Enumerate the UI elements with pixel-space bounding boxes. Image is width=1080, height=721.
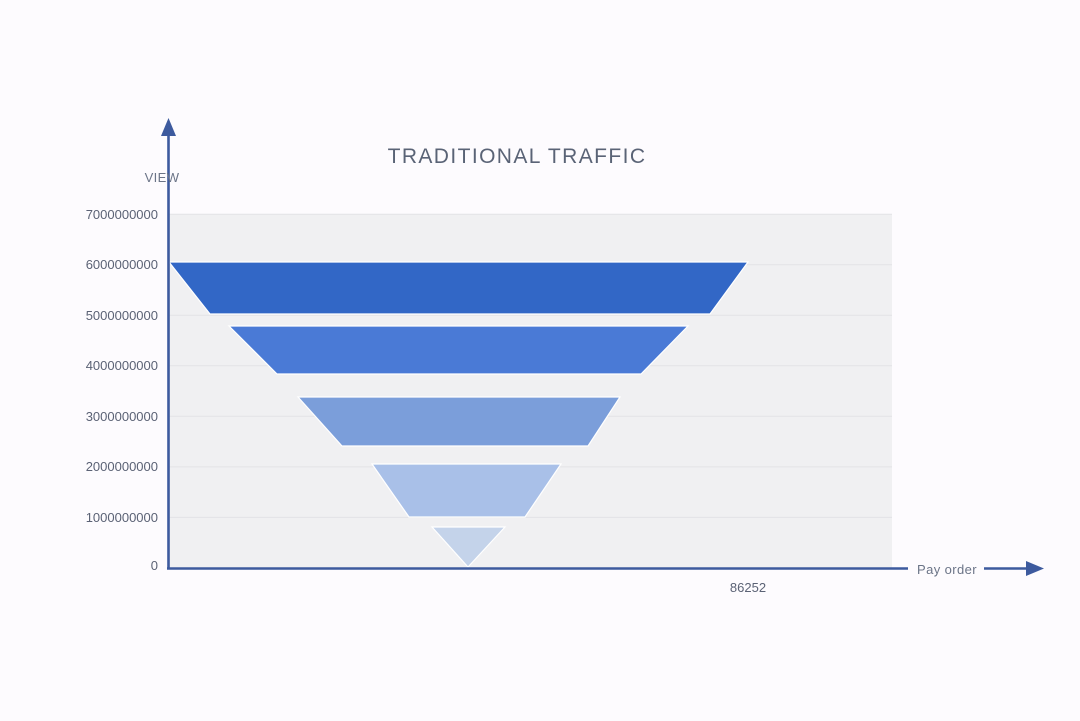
y-tick-label: 4000000000 bbox=[86, 358, 158, 373]
y-axis-label: VIEW bbox=[145, 170, 180, 185]
funnel-chart-svg: TRADITIONAL TRAFFIC VIEW Pay order 0 100… bbox=[0, 0, 1080, 721]
y-tick-label: 0 bbox=[151, 558, 158, 573]
x-tick-label: 86252 bbox=[730, 580, 766, 595]
y-tick-labels: 0 1000000000 2000000000 3000000000 40000… bbox=[86, 207, 158, 573]
funnel-chart-container: TRADITIONAL TRAFFIC VIEW Pay order 0 100… bbox=[0, 0, 1080, 721]
y-tick-label: 3000000000 bbox=[86, 409, 158, 424]
y-tick-label: 5000000000 bbox=[86, 308, 158, 323]
x-tick-labels: 86252 bbox=[730, 580, 766, 595]
y-tick-label: 7000000000 bbox=[86, 207, 158, 222]
funnel-segment-3[interactable] bbox=[298, 397, 620, 446]
funnel-segment-2[interactable] bbox=[229, 326, 688, 374]
x-axis-arrow-icon bbox=[1026, 561, 1044, 576]
y-tick-label: 2000000000 bbox=[86, 459, 158, 474]
y-tick-label: 6000000000 bbox=[86, 257, 158, 272]
chart-title: TRADITIONAL TRAFFIC bbox=[388, 145, 647, 168]
funnel-segment-1[interactable] bbox=[169, 262, 748, 314]
y-tick-label: 1000000000 bbox=[86, 510, 158, 525]
x-axis-label: Pay order bbox=[917, 562, 977, 577]
y-axis-arrow-icon bbox=[161, 118, 176, 136]
